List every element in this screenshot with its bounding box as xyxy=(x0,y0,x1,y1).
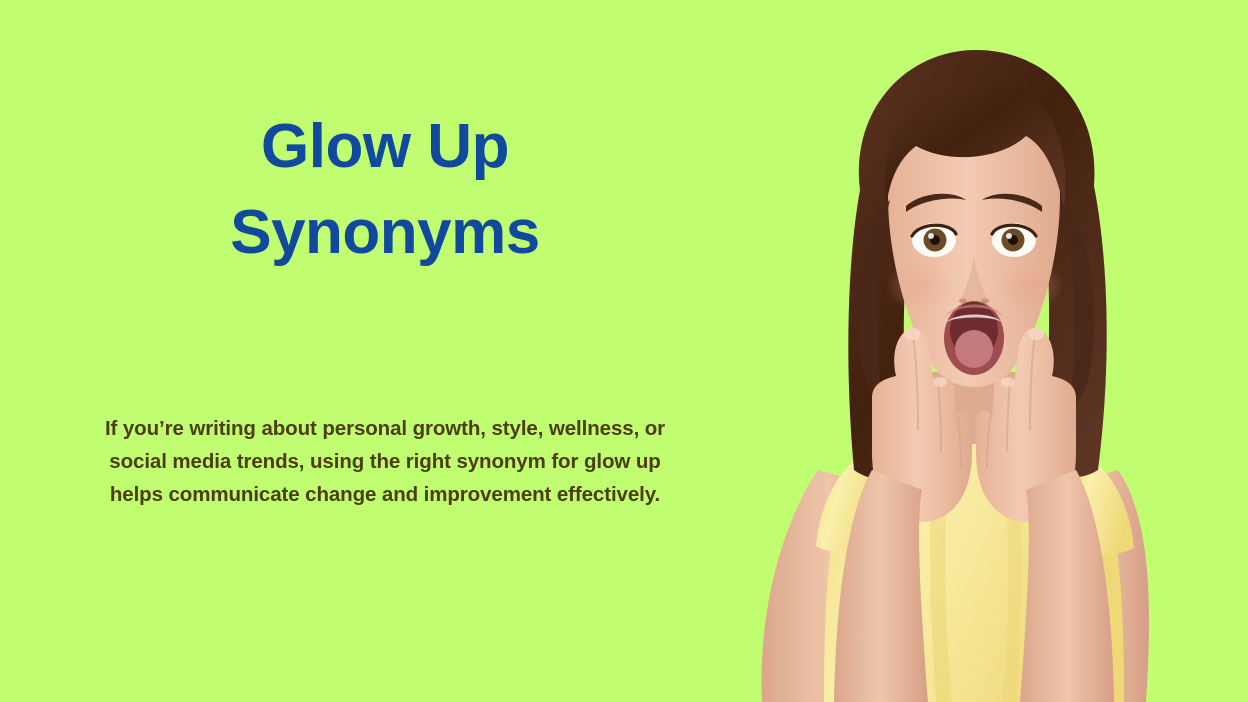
open-mouth xyxy=(944,301,1004,375)
eye-left xyxy=(912,223,956,257)
body-paragraph: If you’re writing about personal growth,… xyxy=(95,412,675,512)
slide-canvas: Glow Up Synonyms If you’re writing about… xyxy=(0,0,1248,702)
eye-right xyxy=(992,223,1036,257)
page-title-line-1: Glow Up xyxy=(60,104,710,190)
portrait-illustration xyxy=(700,0,1248,702)
page-title-line-2: Synonyms xyxy=(60,190,710,276)
text-column: Glow Up Synonyms If you’re writing about… xyxy=(60,0,710,702)
page-title: Glow Up Synonyms xyxy=(60,104,710,275)
portrait-photo xyxy=(700,0,1248,702)
